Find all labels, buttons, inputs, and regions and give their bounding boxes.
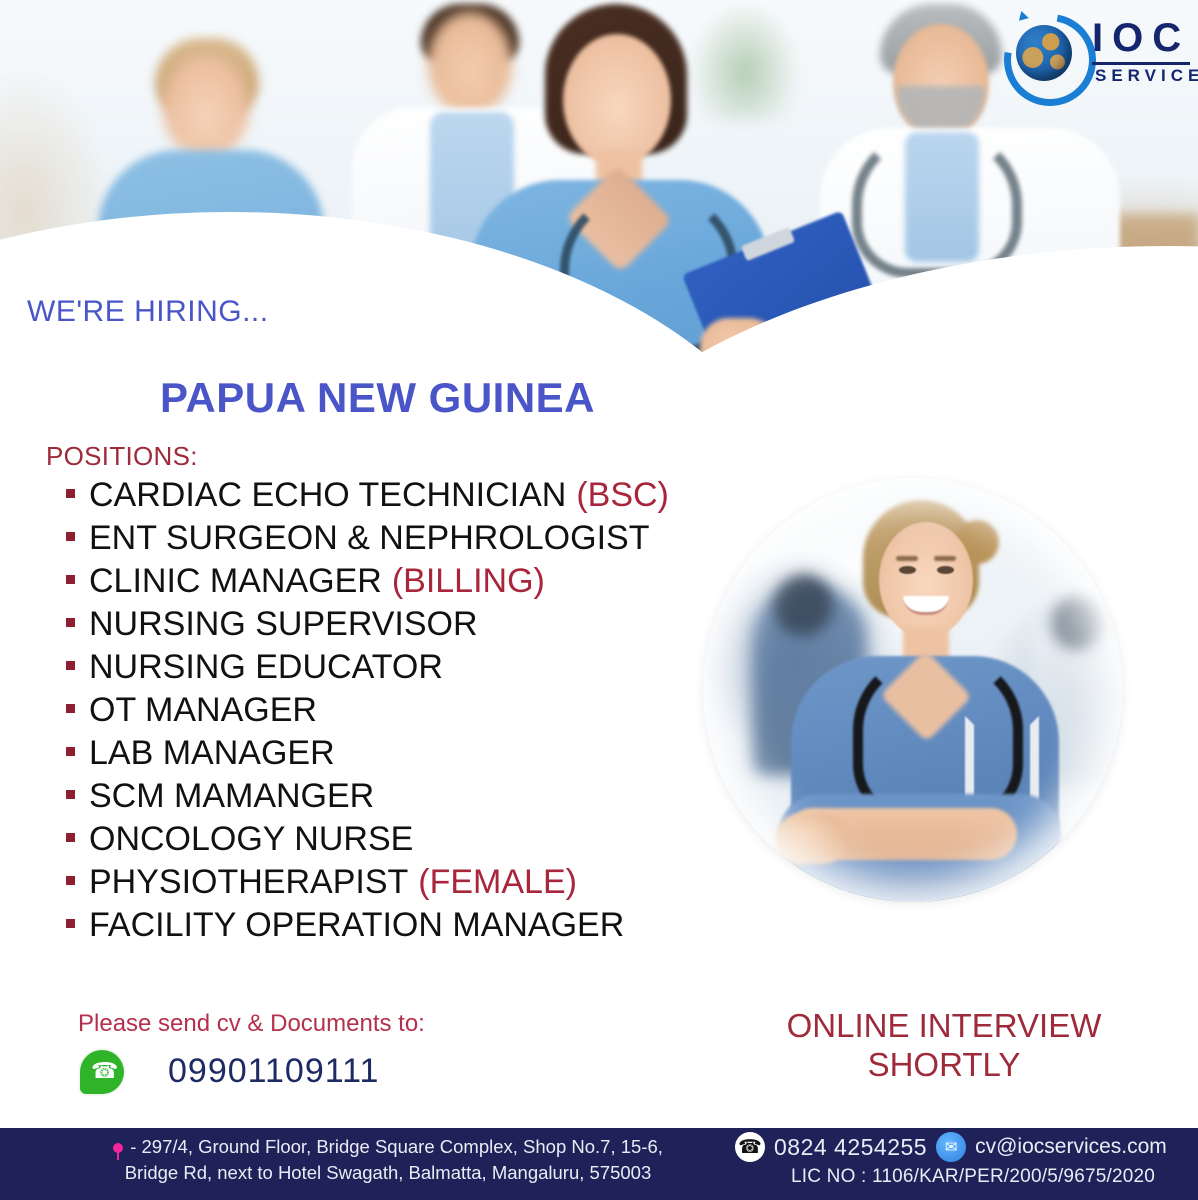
bullet-icon [66, 618, 75, 627]
positions-label: POSITIONS: [46, 441, 198, 472]
footer-contact: ☎ 0824 4254255 ✉ cv@iocservices.com LIC … [735, 1132, 1190, 1188]
footer-contact-row: ☎ 0824 4254255 ✉ cv@iocservices.com [735, 1132, 1190, 1162]
position-title: NURSING EDUCATOR [89, 648, 443, 687]
logo-divider [1092, 62, 1190, 65]
whatsapp-handset-glyph: ☎ [91, 1060, 113, 1083]
position-title: LAB MANAGER [89, 734, 335, 773]
globe-icon [1004, 14, 1082, 92]
position-qualifier: (BSC) [576, 476, 669, 515]
position-title: NURSING SUPERVISOR [89, 605, 478, 644]
bullet-icon [66, 575, 75, 584]
footer-phone[interactable]: 0824 4254255 [774, 1134, 927, 1161]
person-front-nurse-head [563, 34, 671, 166]
position-item: CLINIC MANAGER(BILLING) [66, 562, 806, 605]
position-title: ENT SURGEON & NEPHROLOGIST [89, 519, 649, 558]
whatsapp-icon[interactable]: ☎ [80, 1050, 124, 1094]
position-qualifier: (BILLING) [392, 562, 545, 601]
position-title: CLINIC MANAGER [89, 562, 382, 601]
position-item: FACILITY OPERATION MANAGER [66, 906, 806, 949]
position-qualifier: (FEMALE) [418, 863, 577, 902]
send-cv-text: Please send cv & Documents to: [78, 1010, 425, 1038]
position-item: PHYSIOTHERAPIST(FEMALE) [66, 863, 806, 906]
person-blonde-nurse-head [163, 55, 249, 159]
footer-email[interactable]: cv@iocservices.com [975, 1135, 1167, 1159]
positions-list: CARDIAC ECHO TECHNICIAN(BSC)ENT SURGEON … [66, 476, 806, 949]
position-title: OT MANAGER [89, 691, 317, 730]
bullet-icon [66, 747, 75, 756]
globe-sphere [1016, 25, 1072, 81]
online-interview-line1: ONLINE INTERVIEW [760, 1007, 1128, 1046]
bullet-icon [66, 661, 75, 670]
bullet-icon [66, 876, 75, 885]
company-logo: IOC SERVICES [1000, 8, 1190, 100]
logo-tagline: SERVICES [1095, 66, 1198, 86]
position-item: NURSING EDUCATOR [66, 648, 806, 691]
position-item: NURSING SUPERVISOR [66, 605, 806, 648]
logo-wordmark: IOC [1092, 18, 1190, 58]
bullet-icon [66, 833, 75, 842]
position-title: PHYSIOTHERAPIST [89, 863, 408, 902]
position-item: CARDIAC ECHO TECHNICIAN(BSC) [66, 476, 806, 519]
position-title: ONCOLOGY NURSE [89, 820, 413, 859]
position-item: LAB MANAGER [66, 734, 806, 777]
position-title: FACILITY OPERATION MANAGER [89, 906, 624, 945]
location-pin-icon [113, 1143, 123, 1153]
address-line-1: - 297/4, Ground Floor, Bridge Square Com… [58, 1134, 718, 1160]
position-title: SCM MAMANGER [89, 777, 374, 816]
position-title: CARDIAC ECHO TECHNICIAN [89, 476, 566, 515]
envelope-icon: ✉ [936, 1132, 966, 1162]
address-line-1-text: - 297/4, Ground Floor, Bridge Square Com… [130, 1136, 663, 1157]
recruitment-poster: IOC SERVICES WE'RE HIRING... PAPUA NEW G… [0, 0, 1198, 1200]
we-are-hiring-text: WE'RE HIRING... [27, 295, 269, 329]
position-item: ENT SURGEON & NEPHROLOGIST [66, 519, 806, 562]
portrait-vignette [703, 478, 1123, 902]
office-address: - 297/4, Ground Floor, Bridge Square Com… [58, 1134, 718, 1185]
license-number: LIC NO : 1106/KAR/PER/200/5/9675/2020 [791, 1166, 1190, 1188]
nurse-portrait-photo [703, 478, 1123, 902]
country-title: PAPUA NEW GUINEA [160, 374, 595, 422]
bullet-icon [66, 704, 75, 713]
person-senior-doctor-stethoscope [852, 130, 1022, 278]
address-line-2: Bridge Rd, next to Hotel Swagath, Balmat… [58, 1160, 718, 1186]
bullet-icon [66, 489, 75, 498]
whatsapp-number[interactable]: 09901109111 [168, 1052, 379, 1091]
bullet-icon [66, 919, 75, 928]
bullet-icon [66, 790, 75, 799]
position-item: OT MANAGER [66, 691, 806, 734]
position-item: SCM MAMANGER [66, 777, 806, 820]
position-item: ONCOLOGY NURSE [66, 820, 806, 863]
online-interview-note: ONLINE INTERVIEW SHORTLY [760, 1007, 1128, 1085]
online-interview-line2: SHORTLY [760, 1046, 1128, 1085]
person-male-doctor-head [428, 12, 512, 116]
background-plant [690, 0, 800, 120]
bullet-icon [66, 532, 75, 541]
telephone-icon: ☎ [735, 1132, 765, 1162]
